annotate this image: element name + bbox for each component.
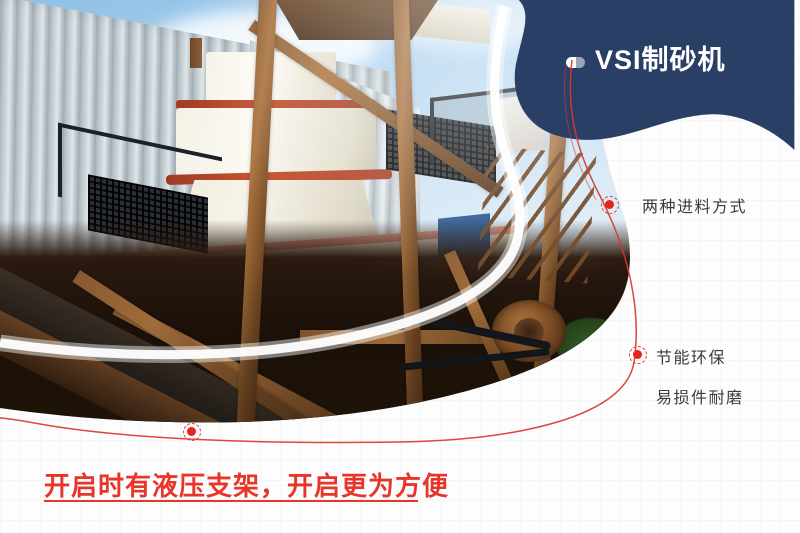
stair-treads [478, 146, 597, 283]
caption-text: 开启时有液压支架，开启更为方便 [44, 466, 449, 503]
capsule-dot-icon [566, 57, 585, 68]
feature-marker-1[interactable] [601, 196, 619, 214]
caption-underline [44, 500, 418, 502]
page-title: VSI制砂机 [595, 38, 726, 77]
feature-label-2: 节能环保 [656, 344, 726, 368]
promo-banner-canvas: VSI制砂机 两种进料方式 节能环保 易损件耐磨 开启时有液压支架，开启更为方便 [0, 0, 800, 533]
tarp-cover [494, 93, 547, 155]
exhaust-stack [190, 38, 202, 68]
feature-label-1: 两种进料方式 [642, 193, 747, 217]
feature-label-3: 易损件耐磨 [656, 384, 744, 408]
caption-marker[interactable] [183, 423, 201, 441]
feature-marker-2[interactable] [629, 346, 647, 364]
